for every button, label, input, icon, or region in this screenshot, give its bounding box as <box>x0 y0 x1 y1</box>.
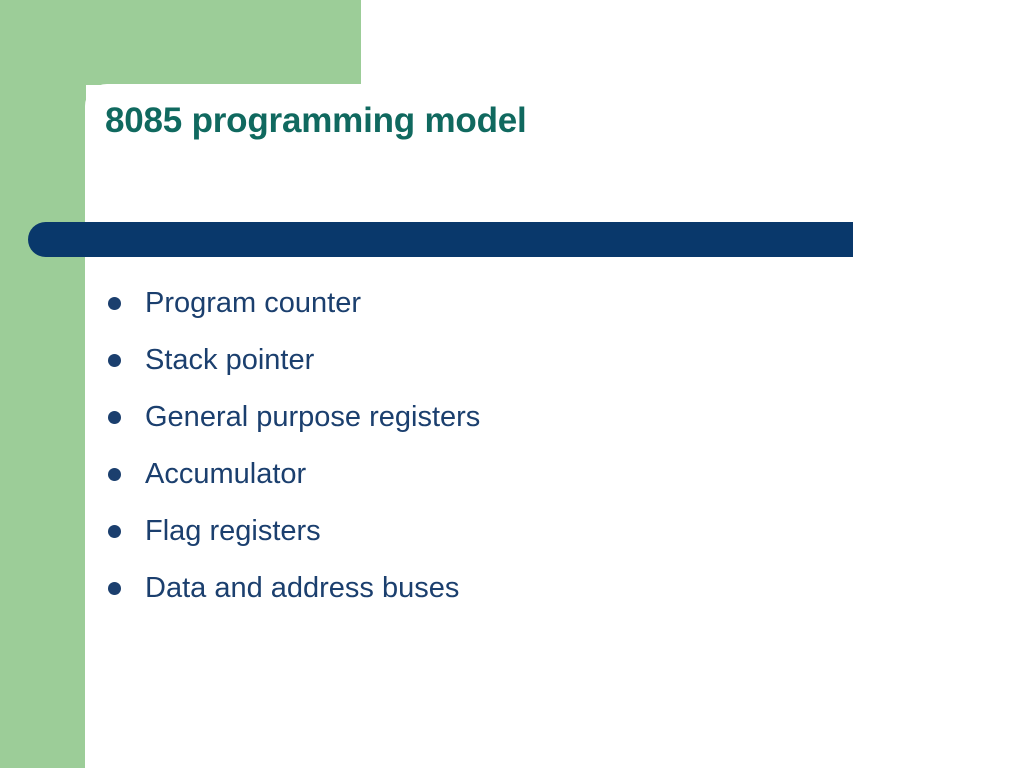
page-title: 8085 programming model <box>105 101 527 141</box>
list-item-label: General purpose registers <box>145 403 480 432</box>
list-item: General purpose registers <box>108 389 928 446</box>
title-divider-bar <box>28 222 853 257</box>
list-item-label: Data and address buses <box>145 574 459 603</box>
bullet-dot-icon <box>108 297 121 310</box>
list-item: Flag registers <box>108 503 928 560</box>
list-item-label: Stack pointer <box>145 346 314 375</box>
bullet-dot-icon <box>108 468 121 481</box>
bullet-dot-icon <box>108 582 121 595</box>
bullet-list: Program counter Stack pointer General pu… <box>108 275 928 617</box>
bullet-dot-icon <box>108 411 121 424</box>
list-item-label: Accumulator <box>145 460 306 489</box>
list-item: Accumulator <box>108 446 928 503</box>
list-item: Stack pointer <box>108 332 928 389</box>
green-accent-strip <box>0 0 86 768</box>
presentation-slide: 8085 programming model Program counter S… <box>0 0 1024 768</box>
list-item-label: Program counter <box>145 289 361 318</box>
list-item-label: Flag registers <box>145 517 321 546</box>
list-item: Program counter <box>108 275 928 332</box>
bullet-dot-icon <box>108 525 121 538</box>
list-item: Data and address buses <box>108 560 928 617</box>
bullet-dot-icon <box>108 354 121 367</box>
